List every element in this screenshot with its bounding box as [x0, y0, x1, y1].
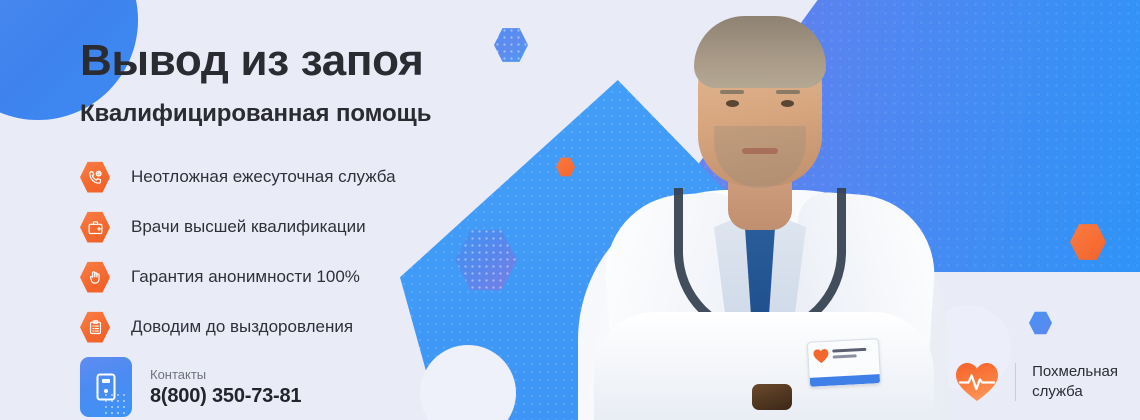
list-item: Гарантия анонимности 100%	[80, 254, 550, 300]
clipboard-icon	[80, 311, 110, 343]
phone-24h-icon: 24	[80, 161, 110, 193]
list-item-label: Врачи высшей квалификации	[131, 217, 366, 237]
brand-name-line1: Похмельная	[1032, 363, 1118, 380]
list-item: 24 Неотложная ежесуточная служба	[80, 154, 550, 200]
list-item-label: Неотложная ежесуточная служба	[131, 167, 396, 187]
brand-logo[interactable]: Похмельная служба	[955, 362, 1118, 403]
banner-content: Вывод из запоя Квалифицированная помощь …	[80, 38, 550, 354]
heart-pulse-icon	[955, 362, 999, 402]
mobile-phone-icon	[80, 357, 132, 417]
hexagon-blue-tiny-decoration	[1029, 311, 1052, 335]
anonymity-hand-icon	[80, 261, 110, 293]
page-title: Вывод из запоя	[80, 38, 550, 84]
medical-briefcase-icon	[80, 211, 110, 243]
list-item: Врачи высшей квалификации	[80, 204, 550, 250]
brand-name-line2: служба	[1032, 383, 1083, 400]
list-item-label: Доводим до выздоровления	[131, 317, 353, 337]
contacts-block[interactable]: Контакты 8(800) 350-73-81	[80, 357, 301, 417]
doctor-photo	[560, 0, 960, 420]
promo-banner: Вывод из запоя Квалифицированная помощь …	[0, 0, 1140, 420]
phone-number-link[interactable]: 8(800) 350-73-81	[150, 385, 301, 408]
page-subtitle: Квалифицированная помощь	[80, 100, 550, 128]
svg-text:24: 24	[96, 172, 100, 176]
doctor-id-badge	[807, 338, 881, 388]
list-item-label: Гарантия анонимности 100%	[131, 267, 360, 287]
contacts-label: Контакты	[150, 367, 301, 382]
feature-list: 24 Неотложная ежесуточная служба Врачи в…	[80, 154, 550, 350]
list-item: Доводим до выздоровления	[80, 304, 550, 350]
brand-name: Похмельная служба	[1032, 362, 1118, 403]
logo-divider	[1015, 363, 1016, 401]
